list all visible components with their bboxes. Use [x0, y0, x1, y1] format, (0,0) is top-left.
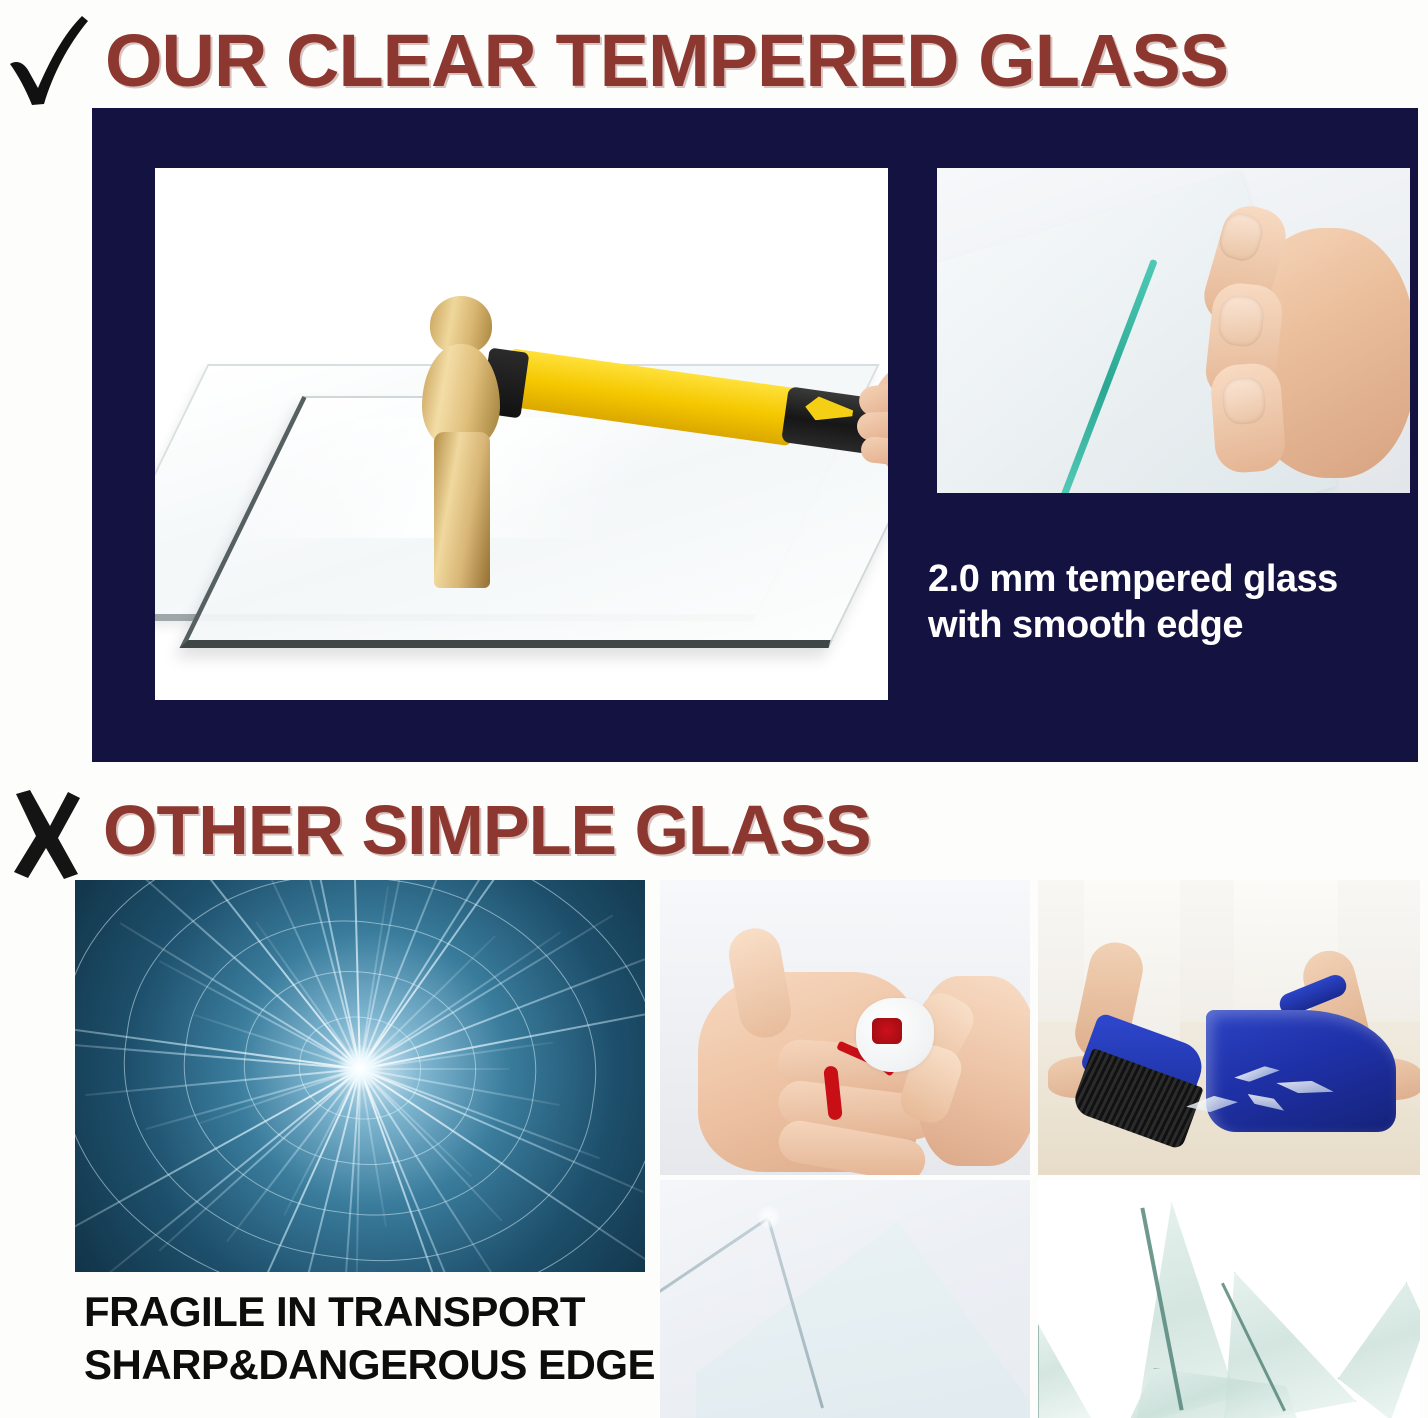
infographic-root: OUR CLEAR TEMPERED GLASS [0, 0, 1428, 1418]
photo-sharp-glass-shards [1038, 1180, 1420, 1418]
tempered-glass-caption: 2.0 mm tempered glass with smooth edge [928, 556, 1398, 649]
fingernail [1221, 377, 1266, 426]
hammer-scene [155, 168, 888, 700]
photo-cut-bleeding-finger [660, 880, 1030, 1175]
blood-on-cotton [872, 1018, 902, 1044]
hammer-face [434, 432, 490, 588]
caption-line-2: SHARP&DANGEROUS EDGE [84, 1339, 764, 1392]
finger [860, 436, 888, 467]
tempered-glass-panel: 2.0 mm tempered glass with smooth edge [92, 108, 1418, 762]
photo-hand-holding-glass-smooth-edge [937, 168, 1410, 493]
hand-holding-glass [1187, 188, 1410, 493]
blue-dustpan [1206, 1010, 1396, 1132]
photo-shattered-blue-glass [75, 880, 645, 1272]
section-heading-tempered: OUR CLEAR TEMPERED GLASS [105, 18, 1228, 103]
hand-gripping-hammer [855, 344, 888, 494]
caption-line-1: FRAGILE IN TRANSPORT [84, 1286, 764, 1339]
section-heading-simple-glass: OTHER SIMPLE GLASS [103, 790, 871, 870]
photo-sweeping-broken-glass [1038, 880, 1420, 1175]
simple-glass-caption: FRAGILE IN TRANSPORT SHARP&DANGEROUS EDG… [84, 1286, 764, 1391]
check-icon [6, 12, 92, 108]
sharp-point-highlight [758, 1206, 780, 1228]
impact-point [337, 1045, 383, 1091]
caption-line-2: with smooth edge [928, 602, 1398, 648]
x-icon [10, 788, 82, 880]
photo-hammer-striking-tempered-glass [155, 168, 888, 700]
caption-line-1: 2.0 mm tempered glass [928, 556, 1398, 602]
hammer-head-brass [420, 296, 500, 586]
